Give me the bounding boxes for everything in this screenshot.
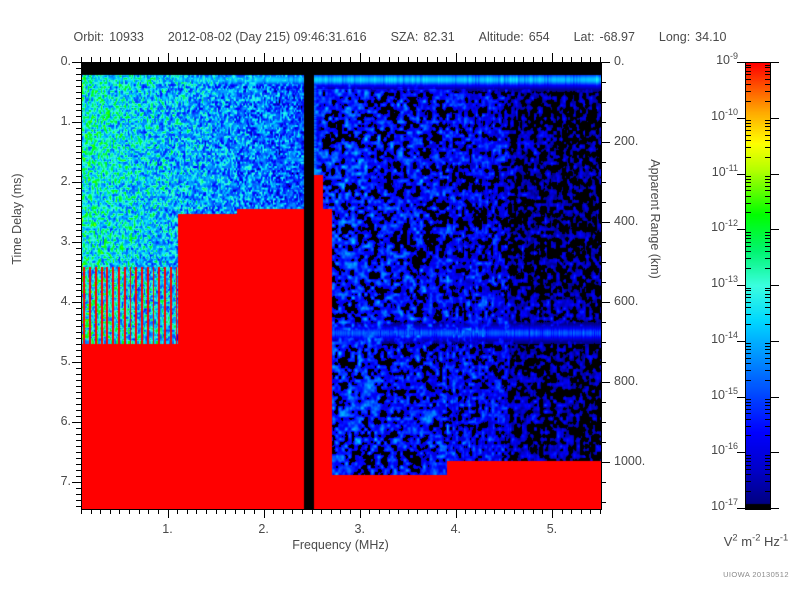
colorbar-minor-tick xyxy=(746,157,751,158)
colorbar-minor-tick xyxy=(746,135,751,136)
x-tick-minor xyxy=(100,509,101,514)
header-lat: Lat:-68.97 xyxy=(574,30,635,44)
y-tick-label: 1. xyxy=(33,114,71,128)
colorbar-minor-tick xyxy=(765,238,770,239)
x-tick-minor xyxy=(389,509,390,514)
unit-volts-exponent: 2 xyxy=(732,533,737,543)
x-tick-top xyxy=(273,57,274,62)
x-tick-top xyxy=(475,57,476,62)
y-tick xyxy=(76,458,81,459)
colorbar-minor-tick xyxy=(765,370,770,371)
header-orbit: Orbit:10933 xyxy=(74,30,144,44)
colorbar-minor-tick xyxy=(765,302,770,303)
colorbar-minor-tick xyxy=(746,246,751,247)
x-tick-top xyxy=(465,57,466,62)
colorbar-minor-tick xyxy=(746,71,751,72)
x-tick-top xyxy=(148,57,149,62)
colorbar-minor-tick xyxy=(746,65,751,66)
colorbar-minor-tick xyxy=(746,268,751,269)
colorbar-tick-label: 10-14 xyxy=(676,332,738,346)
x-tick-top xyxy=(504,57,505,62)
y-tick xyxy=(76,344,81,345)
colorbar-minor-tick xyxy=(746,196,751,197)
x-tick-minor xyxy=(168,509,169,518)
y-tick xyxy=(76,494,81,495)
x-tick-minor xyxy=(129,509,130,514)
colorbar-minor-tick xyxy=(765,474,770,475)
y-tick xyxy=(76,296,81,297)
y-tick xyxy=(76,140,81,141)
colorbar-minor-tick xyxy=(765,343,770,344)
y-tick xyxy=(76,134,81,135)
colorbar-minor-tick xyxy=(765,71,770,72)
y-tick xyxy=(76,350,81,351)
y-tick xyxy=(76,488,81,489)
colorbar-minor-tick xyxy=(765,232,770,233)
header-sza-label: SZA: xyxy=(391,30,419,44)
y-tick xyxy=(72,362,81,363)
y-tick-label: 4. xyxy=(33,294,71,308)
x-tick-minor xyxy=(523,509,524,514)
x-tick-top xyxy=(168,53,169,62)
y-tick-label: 0. xyxy=(33,54,71,68)
colorbar-minor-tick xyxy=(746,251,751,252)
x-tick-minor xyxy=(379,509,380,514)
x-tick-top xyxy=(542,57,543,62)
y2-tick xyxy=(601,182,606,183)
x-tick-top xyxy=(552,53,553,62)
x-tick-top xyxy=(216,57,217,62)
y-tick xyxy=(76,206,81,207)
colorbar-minor-tick xyxy=(765,461,770,462)
spectrogram-plot-area xyxy=(81,62,602,510)
colorbar-minor-tick xyxy=(765,65,770,66)
y-tick xyxy=(76,158,81,159)
x-tick-minor xyxy=(360,509,361,518)
colorbar-minor-tick xyxy=(765,268,770,269)
y-tick xyxy=(76,236,81,237)
y-tick xyxy=(76,188,81,189)
x-tick-top xyxy=(302,57,303,62)
colorbar-minor-tick xyxy=(765,413,770,414)
x-tick-minor xyxy=(119,509,120,514)
colorbar-tick-label: 10-16 xyxy=(676,443,738,457)
x-tick-top xyxy=(244,57,245,62)
y-tick xyxy=(76,398,81,399)
x-tick-top xyxy=(437,57,438,62)
x-tick-minor xyxy=(465,509,466,514)
x-tick-top xyxy=(312,57,313,62)
x-tick-top xyxy=(417,57,418,62)
y-tick xyxy=(76,128,81,129)
x-tick-minor xyxy=(581,509,582,514)
header-long-label: Long: xyxy=(659,30,690,44)
y-tick xyxy=(76,404,81,405)
x-axis-label: Frequency (MHz) xyxy=(81,538,600,552)
colorbar-minor-tick xyxy=(765,74,770,75)
y2-tick-label: 200. xyxy=(614,134,674,148)
x-tick-minor xyxy=(485,509,486,514)
x-tick-top xyxy=(235,57,236,62)
colorbar-minor-tick xyxy=(746,349,751,350)
colorbar-minor-tick xyxy=(765,402,770,403)
y2-tick xyxy=(601,382,610,383)
colorbar-major-tick xyxy=(770,118,779,119)
x-tick-minor xyxy=(158,509,159,514)
y-tick xyxy=(72,242,81,243)
header-sza: SZA:82.31 xyxy=(391,30,455,44)
y-tick xyxy=(76,146,81,147)
x-tick-top xyxy=(408,57,409,62)
x-tick-minor xyxy=(187,509,188,514)
colorbar-minor-tick xyxy=(765,126,770,127)
header-long: Long:34.10 xyxy=(659,30,727,44)
x-tick-top xyxy=(225,57,226,62)
x-tick-top xyxy=(206,57,207,62)
colorbar-minor-tick xyxy=(746,242,751,243)
colorbar-major-tick xyxy=(770,174,779,175)
y-tick xyxy=(76,164,81,165)
y-tick xyxy=(76,392,81,393)
y2-tick xyxy=(601,422,606,423)
colorbar-minor-tick xyxy=(765,79,770,80)
x-tick-minor xyxy=(244,509,245,514)
x-tick-minor xyxy=(369,509,370,514)
colorbar-minor-tick xyxy=(746,399,751,400)
y2-tick-label: 600. xyxy=(614,294,674,308)
y2-axis-label: Apparent Range (km) xyxy=(648,139,662,299)
x-tick-minor xyxy=(81,509,82,514)
colorbar-tick-label: 10-13 xyxy=(676,276,738,290)
x-tick-top xyxy=(196,57,197,62)
colorbar-minor-tick xyxy=(765,405,770,406)
colorbar-minor-tick xyxy=(765,242,770,243)
colorbar-minor-tick xyxy=(746,186,751,187)
x-tick-minor xyxy=(235,509,236,514)
y2-tick xyxy=(601,342,606,343)
x-tick-minor xyxy=(110,509,111,514)
x-tick-minor xyxy=(216,509,217,514)
colorbar-minor-tick xyxy=(765,101,770,102)
unit-meters: m xyxy=(741,534,752,549)
y-tick xyxy=(76,326,81,327)
x-tick-minor xyxy=(148,509,149,514)
y-tick xyxy=(76,230,81,231)
colorbar-minor-tick xyxy=(746,79,751,80)
x-tick-minor xyxy=(600,509,601,514)
y-tick xyxy=(72,422,81,423)
x-tick-top xyxy=(494,57,495,62)
colorbar-minor-tick xyxy=(746,481,751,482)
colorbar-major-tick xyxy=(737,397,746,398)
colorbar-minor-tick xyxy=(765,186,770,187)
x-tick-top xyxy=(331,57,332,62)
colorbar-minor-tick xyxy=(746,130,751,131)
x-tick-minor xyxy=(475,509,476,514)
header-lat-label: Lat: xyxy=(574,30,595,44)
header-altitude-label: Altitude: xyxy=(479,30,524,44)
ionogram-figure: Orbit:10933 2012-08-02 (Day 215) 09:46:3… xyxy=(0,0,800,600)
colorbar-minor-tick xyxy=(765,258,770,259)
x-tick-top xyxy=(398,57,399,62)
y-tick xyxy=(76,116,81,117)
colorbar-minor-tick xyxy=(746,409,751,410)
colorbar-tick-label: 10-15 xyxy=(676,388,738,402)
colorbar-minor-tick xyxy=(746,461,751,462)
x-tick-top xyxy=(389,57,390,62)
colorbar-minor-tick xyxy=(746,140,751,141)
y-tick xyxy=(76,338,81,339)
y-tick xyxy=(76,476,81,477)
y-tick xyxy=(76,506,81,507)
y-tick xyxy=(76,194,81,195)
unit-hertz-exponent: -1 xyxy=(780,533,788,543)
y-tick-label: 5. xyxy=(33,354,71,368)
colorbar-minor-tick xyxy=(746,465,751,466)
x-tick-minor xyxy=(446,509,447,514)
x-tick-minor xyxy=(264,509,265,518)
colorbar-tick-label: 10-12 xyxy=(676,220,738,234)
colorbar-minor-tick xyxy=(765,147,770,148)
colorbar-minor-tick xyxy=(765,349,770,350)
x-tick-minor xyxy=(254,509,255,514)
colorbar-minor-tick xyxy=(746,126,751,127)
colorbar-minor-tick xyxy=(765,307,770,308)
x-tick-minor xyxy=(456,509,457,518)
x-tick-minor xyxy=(225,509,226,514)
y-tick xyxy=(76,254,81,255)
y2-tick xyxy=(601,82,606,83)
colorbar-minor-tick xyxy=(765,465,770,466)
y-tick xyxy=(76,248,81,249)
colorbar-minor-tick xyxy=(746,238,751,239)
colorbar-minor-tick xyxy=(765,140,770,141)
y2-tick xyxy=(601,122,606,123)
x-tick-top xyxy=(321,57,322,62)
header-orbit-value: 10933 xyxy=(109,30,144,44)
y-tick xyxy=(76,290,81,291)
x-tick-minor xyxy=(542,509,543,514)
y-tick xyxy=(76,68,81,69)
x-tick-minor xyxy=(302,509,303,514)
colorbar-major-tick xyxy=(770,397,779,398)
colorbar-minor-tick xyxy=(765,491,770,492)
colorbar-major-tick xyxy=(737,118,746,119)
y-tick xyxy=(76,272,81,273)
colorbar-minor-tick xyxy=(765,203,770,204)
y-tick xyxy=(76,446,81,447)
colorbar-minor-tick xyxy=(746,302,751,303)
colorbar-minor-tick xyxy=(765,346,770,347)
colorbar-major-tick xyxy=(737,62,746,63)
y-tick-label: 7. xyxy=(33,474,71,488)
x-tick-label: 3. xyxy=(338,522,382,536)
x-tick-minor xyxy=(312,509,313,514)
y-tick xyxy=(76,416,81,417)
colorbar-minor-tick xyxy=(746,190,751,191)
colorbar-minor-tick xyxy=(746,91,751,92)
y-tick xyxy=(76,212,81,213)
colorbar-minor-tick xyxy=(765,435,770,436)
colorbar-minor-tick xyxy=(746,353,751,354)
header-sza-value: 82.31 xyxy=(423,30,454,44)
colorbar-minor-tick xyxy=(746,297,751,298)
x-tick-top xyxy=(360,53,361,62)
y2-tick xyxy=(601,62,610,63)
y-tick xyxy=(76,434,81,435)
y-tick xyxy=(76,284,81,285)
header-altitude-value: 654 xyxy=(529,30,550,44)
y-tick xyxy=(76,464,81,465)
colorbar-minor-tick xyxy=(765,130,770,131)
x-tick-top xyxy=(340,57,341,62)
colorbar-minor-tick xyxy=(765,135,770,136)
colorbar-major-tick xyxy=(737,174,746,175)
colorbar-minor-tick xyxy=(765,123,770,124)
colorbar-minor-tick xyxy=(746,179,751,180)
header-lat-value: -68.97 xyxy=(599,30,634,44)
y-axis-label: Time Delay (ms) xyxy=(10,139,24,299)
y-tick xyxy=(76,152,81,153)
y-tick xyxy=(72,62,81,63)
x-tick-minor xyxy=(408,509,409,514)
y-tick xyxy=(72,122,81,123)
y-tick xyxy=(76,104,81,105)
x-tick-top xyxy=(379,57,380,62)
header-altitude: Altitude:654 xyxy=(479,30,550,44)
x-tick-top xyxy=(254,57,255,62)
colorbar-minor-tick xyxy=(746,435,751,436)
colorbar-minor-tick xyxy=(746,405,751,406)
y-tick xyxy=(76,176,81,177)
colorbar-minor-tick xyxy=(765,426,770,427)
x-tick-top xyxy=(590,57,591,62)
colorbar-minor-tick xyxy=(746,147,751,148)
colorbar-minor-tick xyxy=(746,324,751,325)
colorbar-major-tick xyxy=(770,229,779,230)
y2-tick xyxy=(601,162,606,163)
x-tick-minor xyxy=(562,509,563,514)
colorbar-minor-tick xyxy=(765,67,770,68)
unit-meters-exponent: -2 xyxy=(752,533,760,543)
x-tick-top xyxy=(514,57,515,62)
x-tick-top xyxy=(562,57,563,62)
colorbar-minor-tick xyxy=(746,413,751,414)
colorbar-minor-tick xyxy=(765,455,770,456)
y-tick xyxy=(76,224,81,225)
colorbar-minor-tick xyxy=(765,324,770,325)
colorbar-minor-tick xyxy=(765,358,770,359)
observation-header: Orbit:10933 2012-08-02 (Day 215) 09:46:3… xyxy=(0,30,800,44)
colorbar-tick-label: 10-9 xyxy=(676,53,738,67)
y2-tick xyxy=(601,262,606,263)
colorbar-minor-tick xyxy=(746,123,751,124)
colorbar-minor-tick xyxy=(746,182,751,183)
y2-tick xyxy=(601,302,610,303)
colorbar-minor-tick xyxy=(746,258,751,259)
x-tick-top xyxy=(581,57,582,62)
x-tick-minor xyxy=(571,509,572,514)
y-tick-label: 6. xyxy=(33,414,71,428)
y2-tick xyxy=(601,362,606,363)
colorbar-minor-tick xyxy=(765,157,770,158)
colorbar-major-tick xyxy=(770,62,779,63)
colorbar-minor-tick xyxy=(765,297,770,298)
colorbar-minor-tick xyxy=(765,409,770,410)
colorbar-major-tick xyxy=(737,341,746,342)
y-tick xyxy=(76,452,81,453)
y-tick xyxy=(76,374,81,375)
colorbar-minor-tick xyxy=(746,120,751,121)
colorbar-minor-tick xyxy=(746,203,751,204)
y-tick xyxy=(76,110,81,111)
x-tick-top xyxy=(427,57,428,62)
x-tick-minor xyxy=(350,509,351,514)
y-tick xyxy=(76,92,81,93)
y-tick xyxy=(76,170,81,171)
colorbar-minor-tick xyxy=(746,212,751,213)
x-tick-minor xyxy=(331,509,332,514)
colorbar-major-tick xyxy=(737,452,746,453)
colorbar-minor-tick xyxy=(765,120,770,121)
x-tick-top xyxy=(129,57,130,62)
y-tick xyxy=(76,320,81,321)
y-tick xyxy=(76,278,81,279)
y2-tick xyxy=(601,402,606,403)
colorbar-major-tick xyxy=(770,452,779,453)
x-tick-minor xyxy=(283,509,284,514)
colorbar-minor-tick xyxy=(746,314,751,315)
x-tick-label: 4. xyxy=(434,522,478,536)
x-tick-top xyxy=(158,57,159,62)
y-tick xyxy=(76,266,81,267)
x-tick-top xyxy=(81,57,82,62)
colorbar-tick-label: 10-17 xyxy=(676,499,738,513)
colorbar-minor-tick xyxy=(765,380,770,381)
colorbar-minor-tick xyxy=(765,251,770,252)
y-tick xyxy=(76,500,81,501)
y2-tick-label: 0. xyxy=(614,54,674,68)
x-tick-top xyxy=(100,57,101,62)
y2-tick xyxy=(601,482,606,483)
unit-hertz: Hz xyxy=(764,534,780,549)
x-tick-top xyxy=(177,57,178,62)
colorbar-minor-tick xyxy=(765,246,770,247)
y-tick xyxy=(76,356,81,357)
y-tick xyxy=(76,218,81,219)
colorbar-major-tick xyxy=(770,341,779,342)
x-tick-minor xyxy=(196,509,197,514)
colorbar-minor-tick xyxy=(746,84,751,85)
x-tick-top xyxy=(523,57,524,62)
colorbar-minor-tick xyxy=(746,288,751,289)
colorbar-minor-tick xyxy=(746,402,751,403)
x-tick-top xyxy=(110,57,111,62)
y-tick xyxy=(76,470,81,471)
colorbar-major-tick xyxy=(737,285,746,286)
y-tick xyxy=(76,260,81,261)
colorbar-minor-tick xyxy=(746,458,751,459)
colorbar-minor-tick xyxy=(746,370,751,371)
x-tick-minor xyxy=(590,509,591,514)
colorbar-minor-tick xyxy=(746,346,751,347)
y-tick xyxy=(76,332,81,333)
x-tick-top xyxy=(369,57,370,62)
colorbar-minor-tick xyxy=(746,380,751,381)
colorbar-minor-tick xyxy=(746,294,751,295)
y2-tick xyxy=(601,462,610,463)
y2-tick xyxy=(601,102,606,103)
